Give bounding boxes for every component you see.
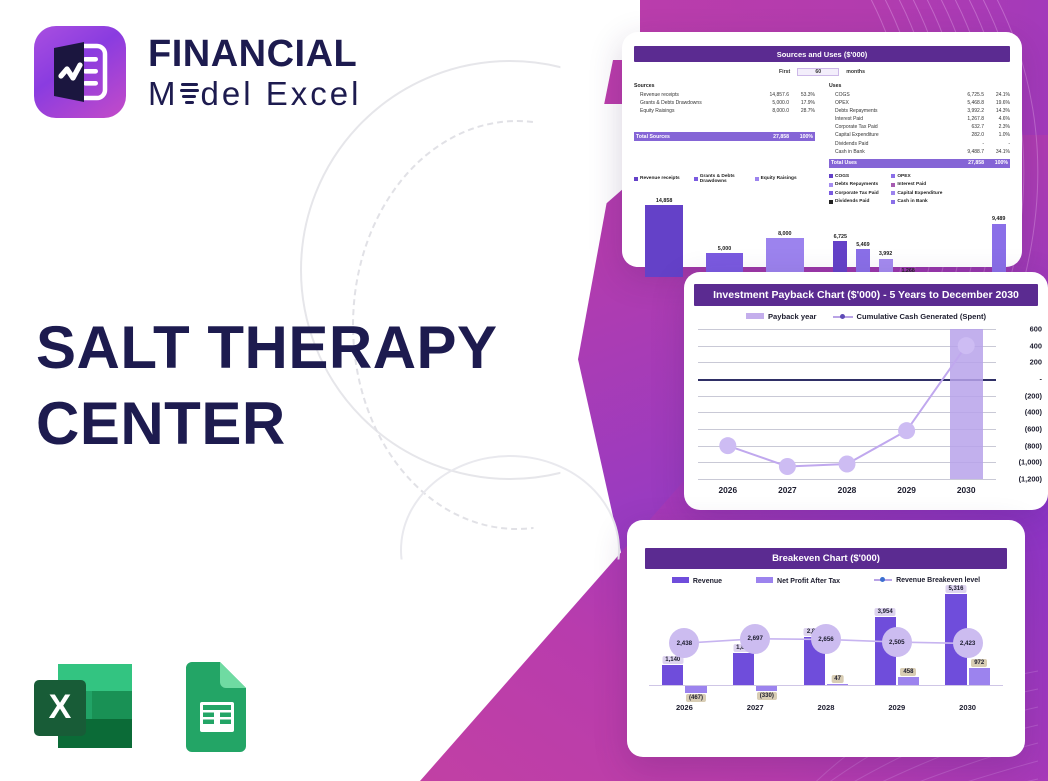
bar-value-label: 3,992 <box>874 251 897 257</box>
uses-total-pct: 100% <box>984 160 1010 166</box>
breakeven-x-axis-labels: 20262027202820292030 <box>649 703 1003 712</box>
y-axis-tick: 400 <box>1030 341 1042 350</box>
y-axis-tick: (1,000) <box>1019 458 1042 467</box>
y-axis-tick: 600 <box>1030 325 1042 334</box>
breakeven-value-bubble: 2,423 <box>953 628 983 658</box>
legend-item: Dividends Paid <box>829 199 889 204</box>
y-axis-tick: (800) <box>1025 441 1042 450</box>
brand-lockup: FINANCIAL M del Excel <box>34 26 361 118</box>
sources-total-amount: 27,858 <box>755 134 789 140</box>
y-axis-tick: (400) <box>1025 408 1042 417</box>
breakeven-value-bubble: 2,505 <box>882 627 912 657</box>
legend-npat: Net Profit After Tax <box>756 577 840 585</box>
period-selector-row[interactable]: First 60 months <box>622 68 1022 76</box>
brand-line-2-prefix: M <box>148 77 179 110</box>
uses-rows: COGS 6,725.5 24.1% OPEX 5,468.8 19.6% De… <box>829 91 1010 156</box>
payback-title: Investment Payback Chart ($'000) - 5 Yea… <box>694 284 1038 306</box>
uses-total-row: Total Uses 27,858 100% <box>829 159 1010 168</box>
x-axis-tick: 2028 <box>791 703 862 712</box>
sources-header: Sources <box>634 83 815 89</box>
legend-item: Equity Raisings <box>755 174 815 184</box>
legend-revenue: Revenue <box>672 577 722 585</box>
gridline <box>698 479 996 480</box>
sources-chart-legend: Revenue receipts Grants & Debts Drawdown… <box>634 174 815 186</box>
x-axis-tick: 2030 <box>932 703 1003 712</box>
brand-wordmark: FINANCIAL M del Excel <box>148 35 361 110</box>
x-axis-tick: 2029 <box>861 703 932 712</box>
breakeven-card[interactable]: Breakeven Chart ($'000) Revenue Net Prof… <box>627 520 1025 757</box>
bar <box>645 205 682 277</box>
decorative-arc-small <box>400 455 620 645</box>
uses-total-label: Total Uses <box>829 160 950 166</box>
x-axis-tick: 2026 <box>649 703 720 712</box>
table-row: Interest Paid 1,267.8 4.6% <box>829 115 1010 123</box>
breakeven-value-bubble: 2,438 <box>669 628 699 658</box>
table-row: Corporate Tax Paid 632.7 2.3% <box>829 123 1010 131</box>
legend-item: Grants & Debts Drawdowns <box>694 174 754 184</box>
legend-cumulative-cash: Cumulative Cash Generated (Spent) <box>833 312 987 321</box>
financial-model-app-icon <box>34 26 126 118</box>
legend-item: Interest Paid <box>891 182 951 187</box>
y-axis-tick: - <box>1040 375 1042 384</box>
bar-value-label: 5,000 <box>694 246 754 252</box>
sources-total-label: Total Sources <box>634 134 755 140</box>
investment-payback-card[interactable]: Investment Payback Chart ($'000) - 5 Yea… <box>684 272 1048 510</box>
y-axis-tick: (1,200) <box>1019 475 1042 484</box>
breakeven-legend: Revenue Net Profit After Tax Revenue Bre… <box>627 577 1025 585</box>
sources-column: Sources Revenue receipts 14,857.6 53.3% … <box>634 83 815 168</box>
payback-legend: Payback year Cumulative Cash Generated (… <box>684 312 1048 321</box>
table-row: Revenue receipts 14,857.6 53.3% <box>634 91 815 99</box>
x-axis-tick: 2028 <box>817 485 877 495</box>
legend-item: Cash in Bank <box>891 199 951 204</box>
x-axis-tick: 2027 <box>720 703 791 712</box>
brand-line-1: FINANCIAL <box>148 35 361 73</box>
svg-text:X: X <box>49 688 72 726</box>
cumulative-cash-line <box>698 329 996 479</box>
table-row: Equity Raisings 8,000.0 28.7% <box>634 107 815 115</box>
stylized-o-glyph-icon <box>179 78 201 108</box>
bar-value-label: 9,489 <box>987 216 1010 222</box>
uses-header: Uses <box>829 83 1010 89</box>
bar-value-label: 6,725 <box>829 234 852 240</box>
breakeven-plot-area: 1,140(467)1,848(330)2,814473,9544585,316… <box>649 589 1003 697</box>
legend-item: OPEX <box>891 174 951 179</box>
legend-item: Revenue receipts <box>634 174 694 184</box>
uses-column: Uses COGS 6,725.5 24.1% OPEX 5,468.8 19.… <box>829 83 1010 168</box>
breakeven-value-bubble: 2,656 <box>811 624 841 654</box>
microsoft-excel-icon: X <box>30 660 136 752</box>
table-row: Debts Repayments 3,992.2 14.3% <box>829 107 1010 115</box>
brand-line-2: M del Excel <box>148 77 361 110</box>
page-title: SALT THERAPY CENTER <box>36 310 536 461</box>
poster-canvas: FINANCIAL M del Excel SALT THERAPY CENTE… <box>0 0 1048 781</box>
table-row: COGS 6,725.5 24.1% <box>829 91 1010 99</box>
zero-baseline <box>649 685 1003 686</box>
bar-value-label: 5,469 <box>852 242 875 248</box>
table-row: Grants & Debts Drawdowns 5,000.0 17.9% <box>634 99 815 107</box>
sources-total-pct: 100% <box>789 134 815 140</box>
table-row: OPEX 5,468.8 19.6% <box>829 99 1010 107</box>
x-axis-tick: 2030 <box>936 485 996 495</box>
sources-rows: Revenue receipts 14,857.6 53.3% Grants &… <box>634 91 815 115</box>
y-axis-tick: (200) <box>1025 391 1042 400</box>
brand-line-2-suffix: del Excel <box>201 77 362 110</box>
x-axis-tick: 2027 <box>758 485 818 495</box>
period-prefix-label: First <box>779 69 790 75</box>
legend-item: COGS <box>829 174 889 179</box>
table-row: Dividends Paid - - <box>829 140 1010 148</box>
payback-plot-area: 600400200-(200)(400)(600)(800)(1,000)(1,… <box>698 329 996 479</box>
breakeven-value-bubble: 2,697 <box>740 624 770 654</box>
bar-value-label: 8,000 <box>755 231 815 237</box>
payback-x-axis-labels: 20262027202820292030 <box>698 485 996 495</box>
legend-item: Corporate Tax Paid <box>829 191 889 196</box>
legend-breakeven-level: Revenue Breakeven level <box>874 577 980 585</box>
table-row: Capital Expenditure 282.0 1.0% <box>829 131 1010 139</box>
supported-formats: X <box>30 660 252 752</box>
uses-chart-legend: COGS OPEX Debts Repayments Interest Paid… <box>829 174 1010 206</box>
table-row: Cash in Bank 9,488.7 34.1% <box>829 148 1010 156</box>
sources-bar-chart: 14,858 5,000 8,000 <box>634 191 815 277</box>
bar-value-label: 14,858 <box>634 198 694 204</box>
sources-and-uses-card[interactable]: Sources and Uses ($'000) First 60 months… <box>622 32 1022 267</box>
sources-total-row: Total Sources 27,858 100% <box>634 132 815 141</box>
legend-payback-year: Payback year <box>746 312 817 321</box>
period-months-input[interactable]: 60 <box>797 68 839 76</box>
google-sheets-icon <box>178 660 252 752</box>
y-axis-tick: (600) <box>1025 425 1042 434</box>
sources-uses-title: Sources and Uses ($'000) <box>634 46 1010 62</box>
period-suffix-label: months <box>846 69 865 75</box>
x-axis-tick: 2029 <box>877 485 937 495</box>
x-axis-tick: 2026 <box>698 485 758 495</box>
legend-item: Debts Repayments <box>829 182 889 187</box>
legend-item: Capital Expenditure <box>891 191 951 196</box>
uses-total-amount: 27,858 <box>950 160 984 166</box>
breakeven-title: Breakeven Chart ($'000) <box>645 548 1007 569</box>
y-axis-tick: 200 <box>1030 358 1042 367</box>
